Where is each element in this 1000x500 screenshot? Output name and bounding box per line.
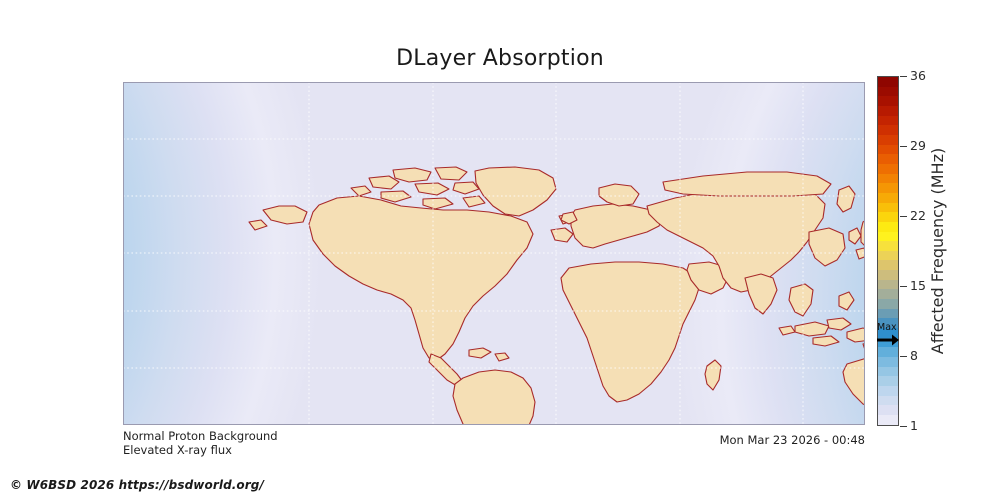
colorbar[interactable]: 1815222936 Max xyxy=(877,76,899,426)
colorbar-band xyxy=(878,270,898,280)
map-plot-area[interactable] xyxy=(123,82,865,425)
colorbar-tick-label: 15 xyxy=(910,280,926,293)
colorbar-band xyxy=(878,318,898,328)
status-line-2: Elevated X-ray flux xyxy=(123,443,278,457)
colorbar-band xyxy=(878,367,898,377)
colorbar-band xyxy=(878,289,898,299)
colorbar-band xyxy=(878,183,898,193)
colorbar-band xyxy=(878,241,898,251)
colorbar-band xyxy=(878,154,898,164)
colorbar-band xyxy=(878,125,898,135)
colorbar-band xyxy=(878,299,898,309)
colorbar-band xyxy=(878,376,898,386)
colorbar-band xyxy=(878,260,898,270)
colorbar-band xyxy=(878,251,898,261)
colorbar-tick-label: 8 xyxy=(910,350,918,363)
colorbar-band xyxy=(878,116,898,126)
colorbar-band xyxy=(878,106,898,116)
colorbar-tick-label: 29 xyxy=(910,140,926,153)
colorbar-tick xyxy=(900,426,907,427)
colorbar-band xyxy=(878,193,898,203)
colorbar-band xyxy=(878,386,898,396)
colorbar-band xyxy=(878,357,898,367)
colorbar-band xyxy=(878,232,898,242)
colorbar-tick xyxy=(900,356,907,357)
colorbar-band xyxy=(878,203,898,213)
colorbar-band xyxy=(878,96,898,106)
colorbar-band xyxy=(878,77,898,87)
colorbar-band xyxy=(878,405,898,415)
colorbar-tick xyxy=(900,286,907,287)
colorbar-title: Affected Frequency (MHz) xyxy=(927,76,949,426)
colorbar-band xyxy=(878,212,898,222)
timestamp: Mon Mar 23 2026 - 00:48 xyxy=(565,433,865,447)
colorbar-band xyxy=(878,338,898,348)
colorbar-band xyxy=(878,309,898,319)
colorbar-tick-label: 22 xyxy=(910,210,926,223)
colorbar-band xyxy=(878,174,898,184)
colorbar-band xyxy=(878,415,898,425)
colorbar-tick-label: 1 xyxy=(910,420,918,433)
colorbar-band xyxy=(878,222,898,232)
colorbar-tick xyxy=(900,216,907,217)
status-line-1: Normal Proton Background xyxy=(123,429,278,443)
colorbar-band xyxy=(878,328,898,338)
colorbar-gradient xyxy=(877,76,899,426)
colorbar-band xyxy=(878,280,898,290)
status-notes: Normal Proton Background Elevated X-ray … xyxy=(123,429,278,457)
colorbar-band xyxy=(878,135,898,145)
colorbar-tick xyxy=(900,146,907,147)
colorbar-band xyxy=(878,396,898,406)
colorbar-band xyxy=(878,164,898,174)
page-title: DLayer Absorption xyxy=(0,46,1000,71)
colorbar-tick-label: 36 xyxy=(910,70,926,83)
colorbar-band xyxy=(878,347,898,357)
colorbar-band xyxy=(878,145,898,155)
colorbar-band xyxy=(878,87,898,97)
colorbar-tick xyxy=(900,76,907,77)
world-map-svg xyxy=(123,82,865,425)
footer-credit: © W6BSD 2026 https://bsdworld.org/ xyxy=(10,478,264,492)
